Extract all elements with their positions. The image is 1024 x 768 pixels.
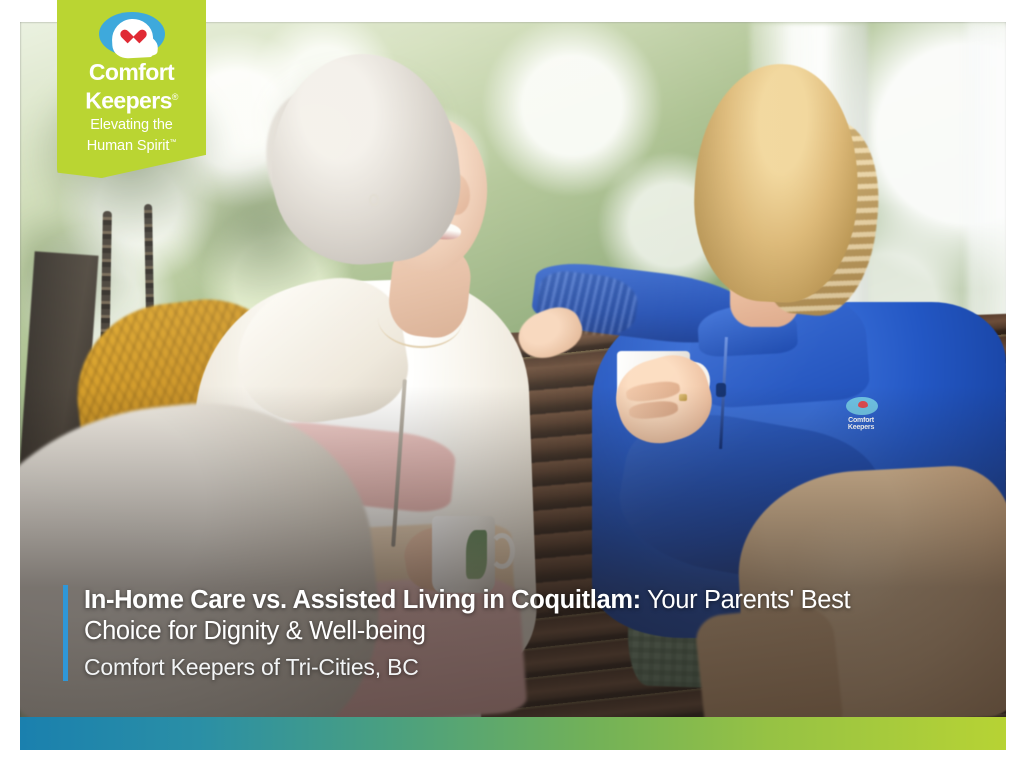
- trademark-mark: ™: [169, 139, 176, 146]
- headline-bold-part: In-Home Care vs. Assisted Living in Coqu…: [84, 586, 641, 614]
- jacket-logo-heart-icon: [858, 401, 868, 408]
- headline: In-Home Care vs. Assisted Living in Coqu…: [84, 585, 893, 647]
- comfort-keepers-heart-logo-icon: [99, 12, 165, 56]
- senior-woman-mug-handle: [489, 533, 515, 569]
- subtitle: Comfort Keepers of Tri-Cities, BC: [84, 653, 893, 681]
- registered-mark: ®: [172, 92, 178, 102]
- brand-wordmark: Comfort Keepers®: [57, 60, 206, 114]
- jacket-logo-wordmark: Comfort Keepers: [830, 417, 891, 432]
- porch-column-secondary: [967, 22, 1006, 344]
- mug-fern-motif: [466, 530, 488, 579]
- slide-canvas: Comfort Keepers Comfort Keepers® Elevati…: [0, 0, 1024, 768]
- caregiver-zipper-pull: [716, 383, 726, 397]
- footer-gradient-bar: [20, 717, 1006, 750]
- jacket-comfort-keepers-logo-icon: Comfort Keepers: [830, 397, 891, 447]
- brand-tagline-line2: Human Spirit: [87, 138, 170, 154]
- caregiver-ring: [679, 394, 687, 401]
- brand-wordmark-line2: Keepers: [85, 88, 172, 114]
- brand-wordmark-line1: Comfort: [89, 59, 174, 85]
- brand-tagline: Elevating the Human Spirit™: [57, 116, 206, 155]
- logo-red-heart-icon: [125, 24, 142, 39]
- brand-tagline-line1: Elevating the: [90, 117, 173, 133]
- brand-logo-panel[interactable]: Comfort Keepers® Elevating the Human Spi…: [57, 0, 206, 178]
- caption-block: In-Home Care vs. Assisted Living in Coqu…: [63, 585, 893, 681]
